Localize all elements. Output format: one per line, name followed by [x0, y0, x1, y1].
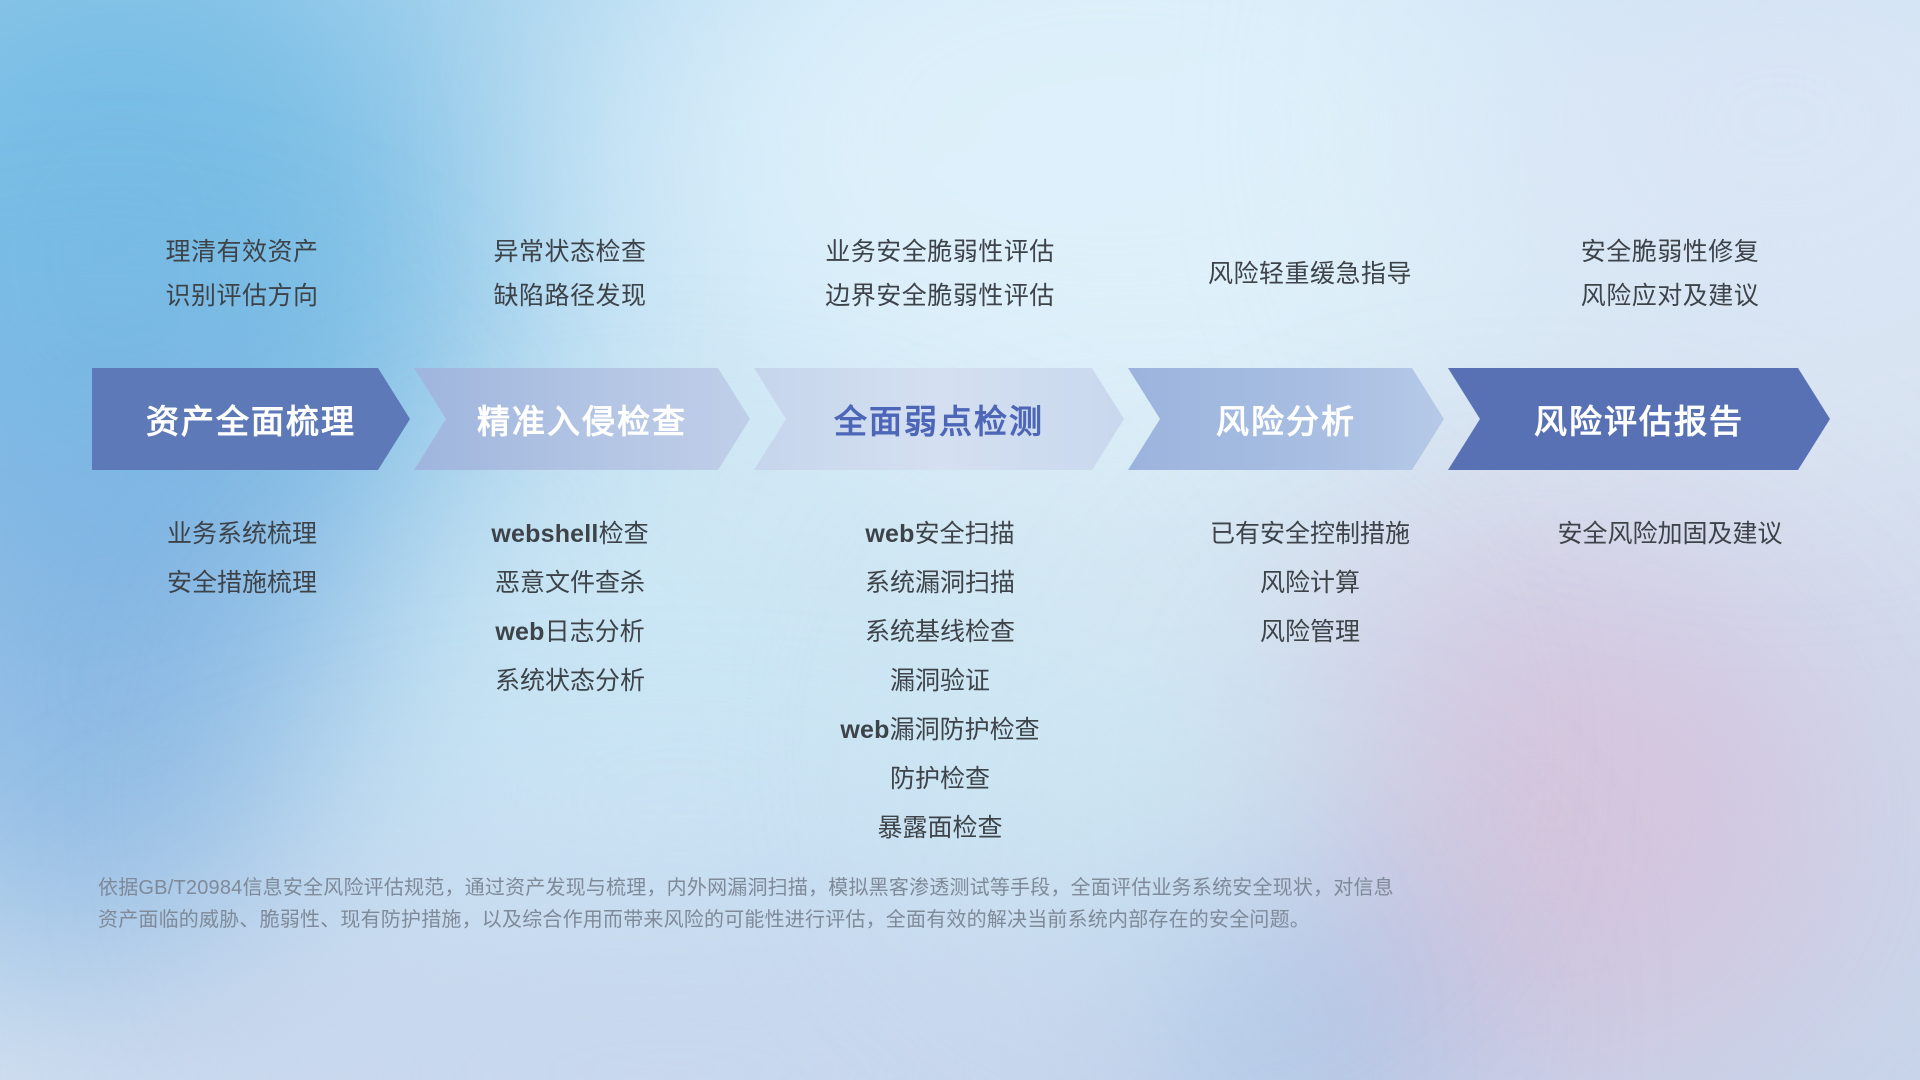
stage-bottom-items-risk-report: 安全风险加固及建议 [1500, 510, 1840, 559]
top-note: 缺陷路径发现 [420, 274, 720, 318]
footer-line: 依据GB/T20984信息安全风险评估规范，通过资产发现与梳理，内外网漏洞扫描，… [98, 872, 1738, 904]
list-item: 漏洞验证 [780, 657, 1100, 706]
stage-bottom-items-asset-inventory: 业务系统梳理 安全措施梳理 [92, 510, 392, 608]
stage-arrow-label: 风险分析 [1216, 395, 1356, 443]
top-note: 边界安全脆弱性评估 [780, 274, 1100, 318]
list-item-latin: web [495, 618, 544, 646]
stage-top-notes-risk-report: 安全脆弱性修复 风险应对及建议 [1510, 230, 1830, 318]
list-item-cjk: 日志分析 [545, 618, 645, 646]
list-item: 安全措施梳理 [92, 559, 392, 608]
stage-arrow-weakness-detection[interactable]: 全面弱点检测 [754, 368, 1124, 470]
stage-arrow-risk-analysis[interactable]: 风险分析 [1128, 368, 1444, 470]
list-item: 系统基线检查 [780, 608, 1100, 657]
stage-arrow-risk-report[interactable]: 风险评估报告 [1448, 368, 1830, 470]
stage-arrow-label: 资产全面梳理 [146, 395, 356, 443]
infographic-content: 理清有效资产 识别评估方向 异常状态检查 缺陷路径发现 业务安全脆弱性评估 边界… [0, 0, 1920, 1080]
list-item: 安全风险加固及建议 [1500, 510, 1840, 559]
top-note: 识别评估方向 [92, 274, 392, 318]
stage-top-notes-intrusion-check: 异常状态检查 缺陷路径发现 [420, 230, 720, 318]
stage-bottom-items-intrusion-check: webshell检查 恶意文件查杀 web日志分析 系统状态分析 [420, 510, 720, 706]
top-note: 风险轻重缓急指导 [1160, 252, 1460, 296]
footer-line: 资产面临的威胁、脆弱性、现有防护措施，以及综合作用而带来风险的可能性进行评估，全… [98, 904, 1738, 936]
stage-arrow-asset-inventory[interactable]: 资产全面梳理 [92, 368, 410, 470]
process-arrow-band: 资产全面梳理 精准入侵检查 全面弱点检测 风险分析 风险评估报告 [0, 368, 1920, 470]
stage-bottom-items-weakness-detection: web安全扫描 系统漏洞扫描 系统基线检查 漏洞验证 web漏洞防护检查 防护检… [780, 510, 1100, 853]
stage-top-notes-asset-inventory: 理清有效资产 识别评估方向 [92, 230, 392, 318]
stage-arrow-label: 风险评估报告 [1534, 395, 1744, 443]
list-item: 业务系统梳理 [92, 510, 392, 559]
stage-arrow-label: 精准入侵检查 [477, 395, 687, 443]
list-item: 风险计算 [1160, 559, 1460, 608]
list-item: web安全扫描 [780, 510, 1100, 559]
list-item: web漏洞防护检查 [780, 706, 1100, 755]
top-note: 异常状态检查 [420, 230, 720, 274]
list-item: 恶意文件查杀 [420, 559, 720, 608]
list-item: 风险管理 [1160, 608, 1460, 657]
list-item: webshell检查 [420, 510, 720, 559]
list-item-latin: web [865, 520, 914, 548]
top-note: 理清有效资产 [92, 230, 392, 274]
stage-top-notes-weakness-detection: 业务安全脆弱性评估 边界安全脆弱性评估 [780, 230, 1100, 318]
list-item: 已有安全控制措施 [1160, 510, 1460, 559]
top-note: 安全脆弱性修复 [1510, 230, 1830, 274]
list-item-cjk: 安全扫描 [915, 520, 1015, 548]
list-item: web日志分析 [420, 608, 720, 657]
list-item-cjk: 漏洞防护检查 [890, 716, 1040, 744]
stage-arrow-label: 全面弱点检测 [834, 395, 1044, 443]
stage-arrow-intrusion-check[interactable]: 精准入侵检查 [414, 368, 750, 470]
top-note: 业务安全脆弱性评估 [780, 230, 1100, 274]
list-item: 暴露面检查 [780, 804, 1100, 853]
footer-description: 依据GB/T20984信息安全风险评估规范，通过资产发现与梳理，内外网漏洞扫描，… [98, 872, 1738, 936]
stage-top-notes-risk-analysis: 风险轻重缓急指导 [1160, 252, 1460, 296]
stage-bottom-items-risk-analysis: 已有安全控制措施 风险计算 风险管理 [1160, 510, 1460, 657]
list-item-cjk: 检查 [599, 520, 649, 548]
top-note: 风险应对及建议 [1510, 274, 1830, 318]
list-item-latin: webshell [491, 520, 598, 548]
list-item: 系统漏洞扫描 [780, 559, 1100, 608]
list-item: 系统状态分析 [420, 657, 720, 706]
list-item: 防护检查 [780, 755, 1100, 804]
list-item-latin: web [840, 716, 889, 744]
